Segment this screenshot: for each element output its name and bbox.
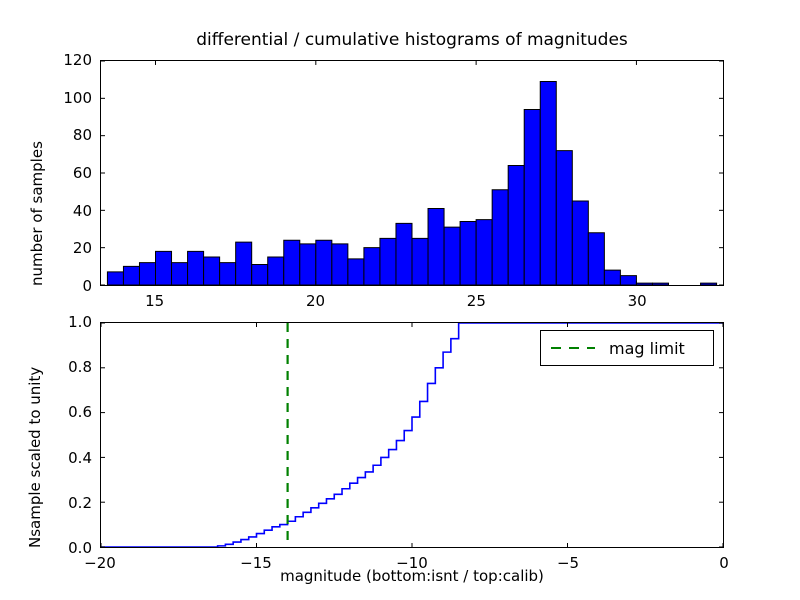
histogram-bar (460, 222, 476, 285)
histogram-bar (652, 283, 668, 285)
histogram-bar (156, 251, 172, 285)
histogram-bar (508, 166, 524, 285)
histogram-bar (316, 240, 332, 285)
histogram-bar (204, 257, 220, 285)
histogram-bar (332, 244, 348, 285)
histogram-bar (364, 248, 380, 285)
histogram-bar (604, 270, 620, 285)
y-tick-label: 120 (36, 51, 92, 69)
y-tick-label: 1.0 (36, 313, 92, 331)
differential-histogram-canvas (101, 61, 723, 285)
histogram-bar (123, 266, 139, 285)
histogram-bar (139, 263, 155, 285)
histogram-bar (556, 151, 572, 285)
page-title: differential / cumulative histograms of … (100, 30, 724, 50)
y-tick-label: 0.8 (36, 358, 92, 376)
top-plot-axes (100, 60, 724, 286)
x-tick-label: 15 (145, 292, 164, 310)
histogram-bar (396, 223, 412, 285)
histogram-bar (540, 82, 556, 285)
histogram-bar (701, 283, 717, 285)
histogram-bar (220, 263, 236, 285)
histogram-bar (636, 283, 652, 285)
histogram-bar (524, 110, 540, 285)
y-tick-label: 0.4 (36, 449, 92, 467)
legend-label-mag-limit: mag limit (609, 339, 685, 358)
histogram-bar (492, 190, 508, 285)
x-tick-label: 30 (628, 292, 647, 310)
histogram-bar (268, 257, 284, 285)
y-tick-label: 0.2 (36, 494, 92, 512)
top-y-axis-label: number of samples (28, 141, 46, 286)
histogram-bar (236, 242, 252, 285)
legend: mag limit (540, 330, 714, 366)
bottom-x-axis-label: magnitude (bottom:isnt / top:calib) (100, 567, 724, 585)
histogram-bar (476, 220, 492, 285)
histogram-bar (428, 208, 444, 285)
histogram-bar (252, 264, 268, 285)
histogram-bar (107, 272, 123, 285)
histogram-bar (412, 238, 428, 285)
bottom-y-axis-label: Nsample scaled to unity (26, 367, 44, 548)
histogram-bar (620, 276, 636, 285)
histogram-bar (572, 201, 588, 285)
histogram-bar (348, 259, 364, 285)
histogram-bar (188, 251, 204, 285)
histogram-bar (284, 240, 300, 285)
x-tick-label: 25 (467, 292, 486, 310)
histogram-bar (172, 263, 188, 285)
figure-canvas: differential / cumulative histograms of … (0, 0, 800, 600)
histogram-bar (300, 244, 316, 285)
histogram-bar (588, 233, 604, 285)
mag-limit-line-swatch (551, 347, 595, 349)
y-tick-label: 100 (36, 89, 92, 107)
histogram-bar (444, 227, 460, 285)
x-tick-label: 20 (306, 292, 325, 310)
histogram-bar (380, 238, 396, 285)
y-tick-label: 0.6 (36, 403, 92, 421)
